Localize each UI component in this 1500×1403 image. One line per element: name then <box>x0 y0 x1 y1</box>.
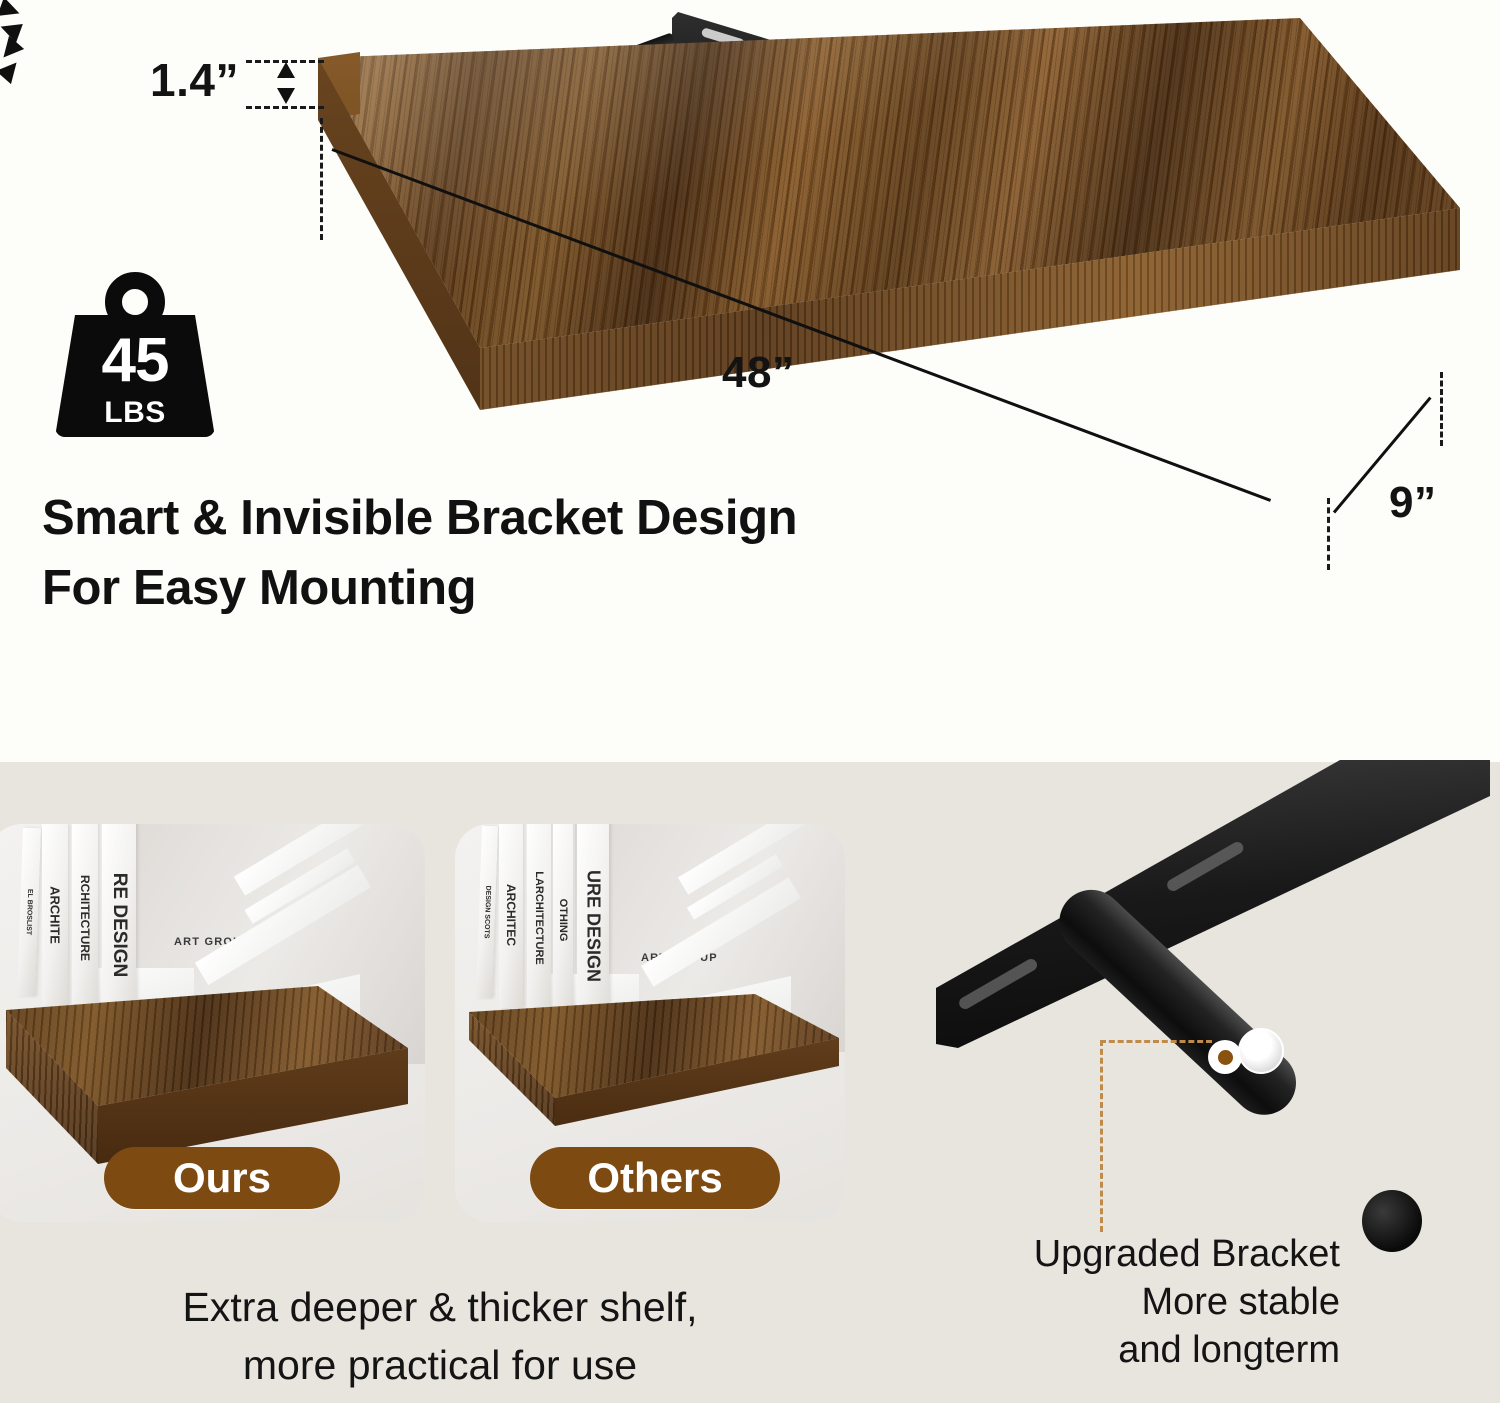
comparison-caption: Extra deeper & thicker shelf, more pract… <box>30 1278 850 1394</box>
thickness-guide-bottom <box>246 106 324 109</box>
weight-value: 45 <box>55 330 215 392</box>
weight-unit: LBS <box>55 398 215 428</box>
shelf-board <box>300 18 1460 478</box>
thickness-label: 1.4” <box>150 53 239 107</box>
bracket-detail-illustration <box>900 760 1500 1260</box>
thickness-arrow-up <box>277 62 295 78</box>
bracket-callout-line-vertical <box>1100 1040 1103 1232</box>
depth-label: 9” <box>1389 478 1436 528</box>
depth-arrow-bottom <box>0 56 24 84</box>
width-guide-left <box>320 118 323 240</box>
comparison-caption-line-2: more practical for use <box>30 1336 850 1394</box>
bracket-washer-white <box>1238 1028 1284 1074</box>
weight-icon: 45 LBS <box>55 272 215 437</box>
depth-guide-top <box>1440 372 1443 446</box>
top-panel: 1.4” 48” 9” 45 LBS Smart & Invisible Bra… <box>0 0 1500 762</box>
product-infographic: 1.4” 48” 9” 45 LBS Smart & Invisible Bra… <box>0 0 1500 1403</box>
headline-line-2: For Easy Mounting <box>42 554 942 624</box>
bracket-callout-line-horizontal <box>1100 1040 1212 1043</box>
bracket-washer-brown <box>1208 1040 1242 1074</box>
badge-others: Others <box>530 1147 780 1209</box>
bracket-caption-line-2: More stable <box>880 1279 1340 1327</box>
thickness-arrow-down <box>277 88 295 104</box>
comparison-caption-line-1: Extra deeper & thicker shelf, <box>30 1278 850 1336</box>
width-label: 48” <box>722 348 794 398</box>
headline: Smart & Invisible Bracket Design For Eas… <box>42 484 942 623</box>
bracket-caption: Upgraded Bracket More stable and longter… <box>880 1231 1340 1375</box>
depth-guide-bottom <box>1327 498 1330 570</box>
headline-line-1: Smart & Invisible Bracket Design <box>42 484 942 554</box>
bracket-caption-line-1: Upgraded Bracket <box>880 1231 1340 1279</box>
bracket-caption-line-3: and longterm <box>880 1327 1340 1375</box>
badge-ours: Ours <box>104 1147 340 1209</box>
bracket-rod-cap <box>1362 1190 1422 1252</box>
